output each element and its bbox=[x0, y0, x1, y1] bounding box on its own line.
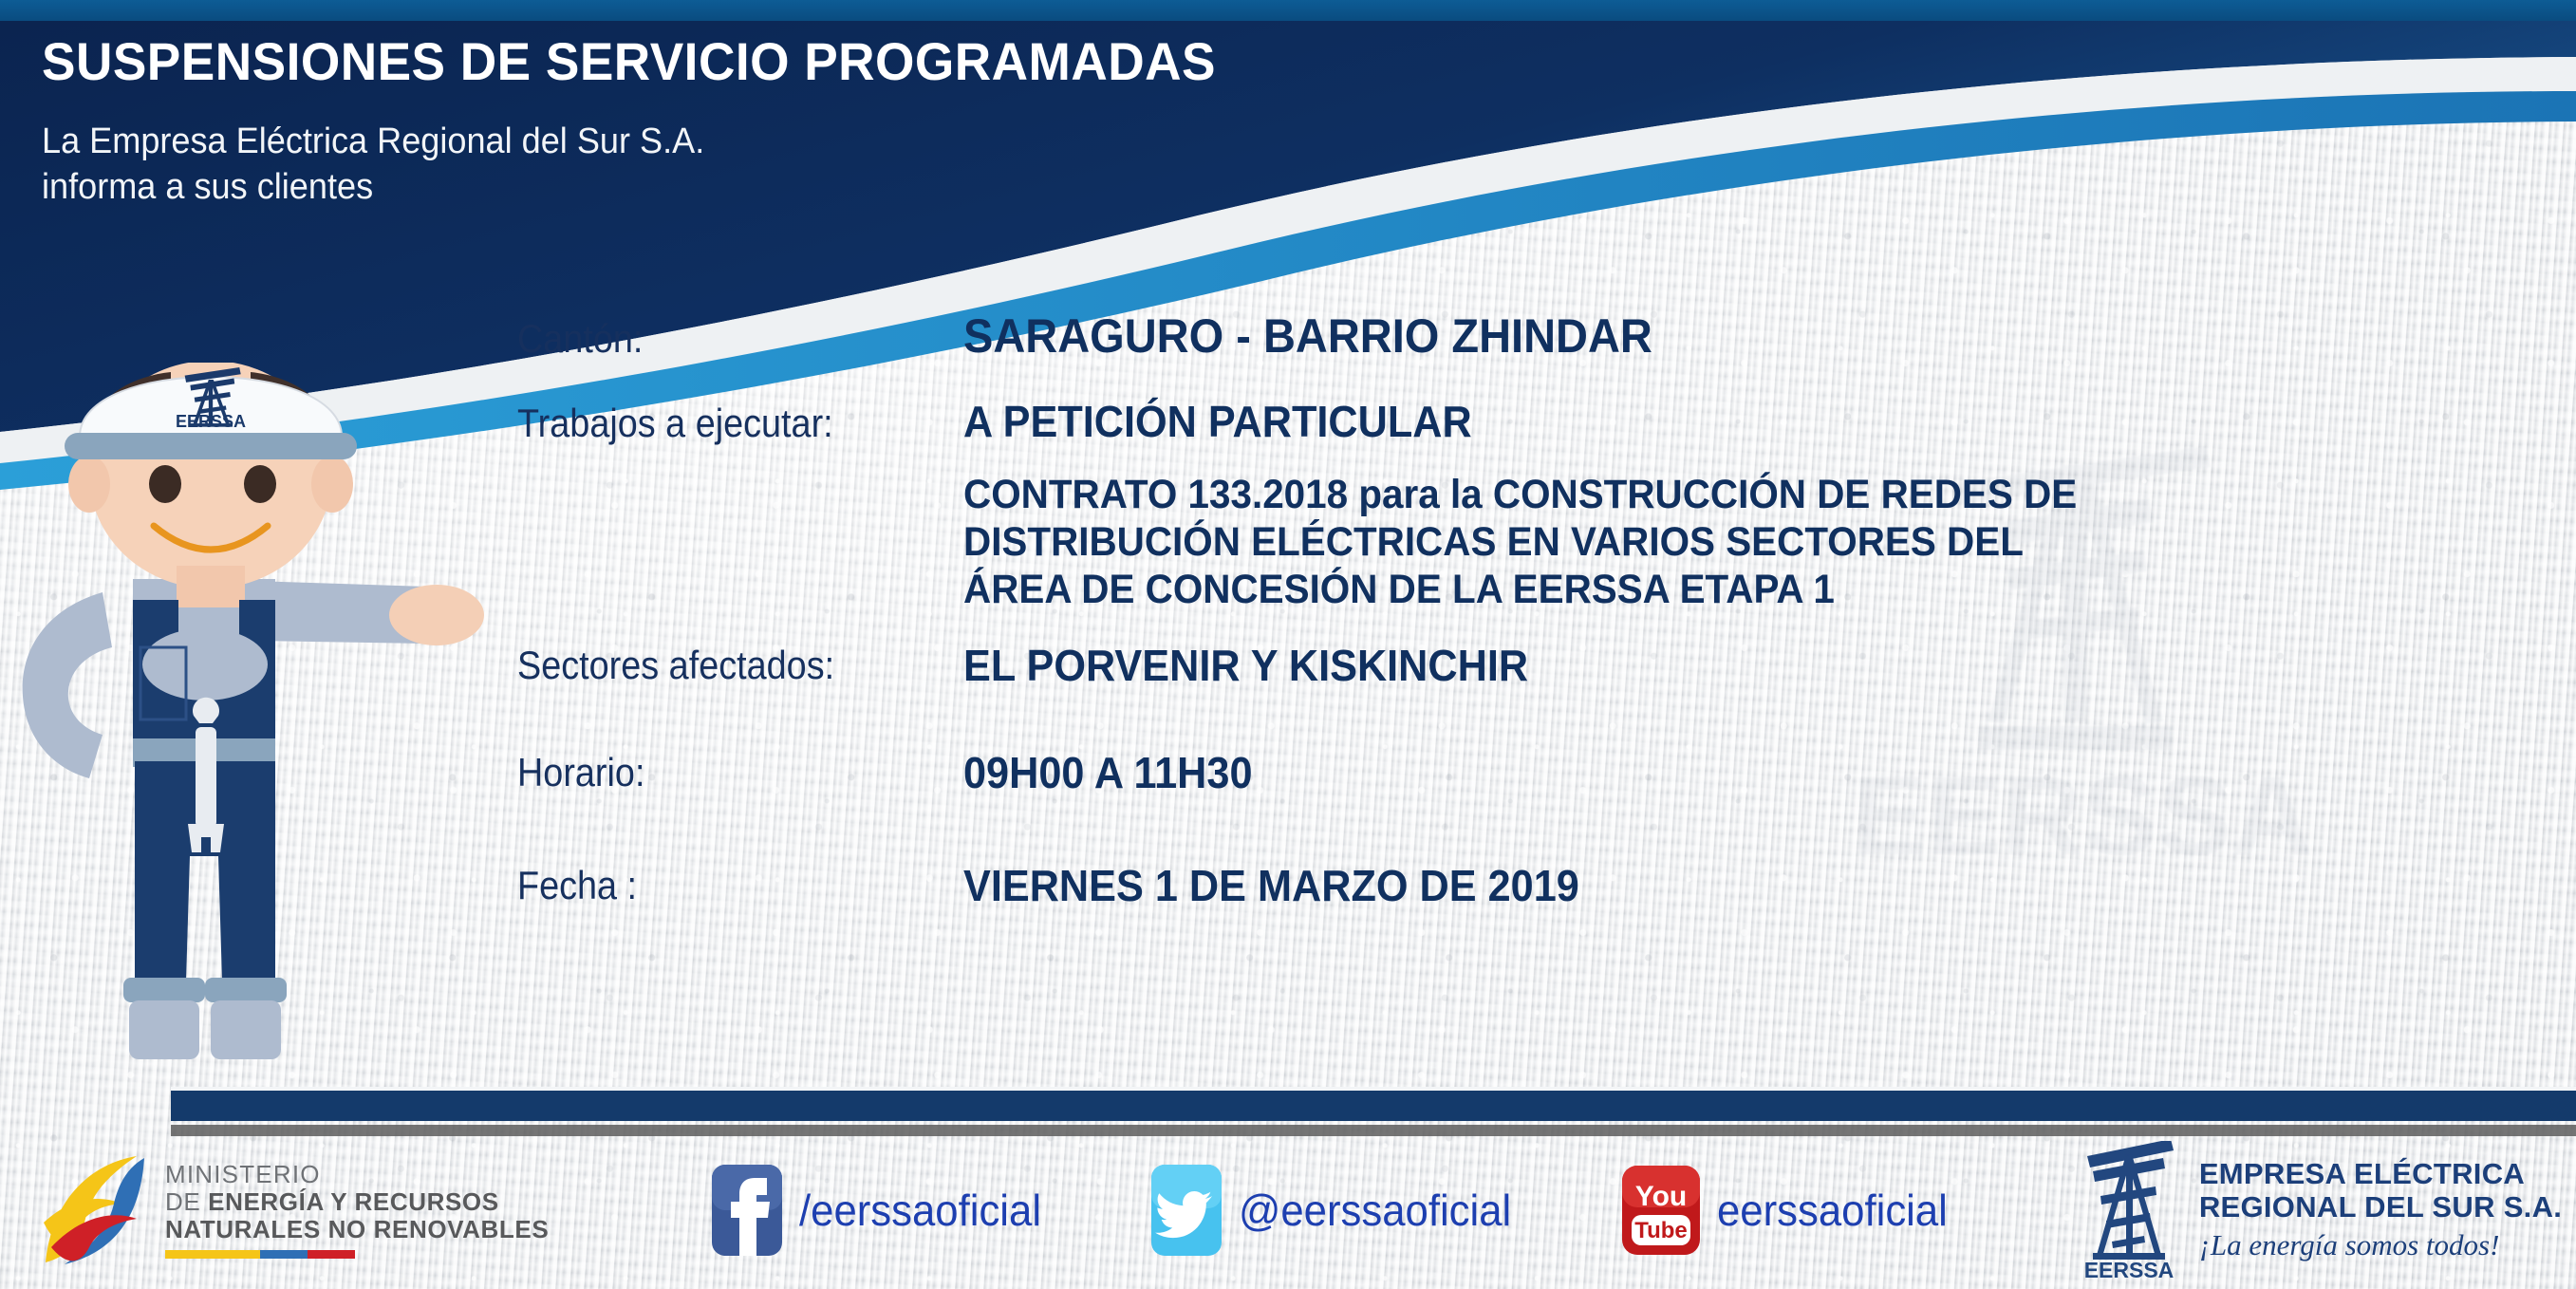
suspension-details: Cantón: SARAGURO - BARRIO ZHINDAR Trabaj… bbox=[517, 308, 2548, 943]
ministry-line3: NATURALES NO RENOVABLES bbox=[165, 1216, 549, 1243]
svg-text:You: You bbox=[1635, 1181, 1687, 1212]
row-sectores: Sectores afectados: EL PORVENIR Y KISKIN… bbox=[517, 614, 2548, 717]
trabajos-value: A PETICIÓN PARTICULAR bbox=[963, 396, 1472, 447]
horario-label: Horario: bbox=[517, 750, 919, 795]
ministry-line2: DE ENERGÍA Y RECURSOS bbox=[165, 1188, 549, 1216]
company-name-line2: REGIONAL DEL SUR S.A. bbox=[2199, 1191, 2562, 1224]
worker-mascot-illustration: EERSSA bbox=[0, 363, 484, 1112]
trabajos-detail: CONTRATO 133.2018 para la CONSTRUCCIÓN D… bbox=[963, 472, 2548, 614]
ministry-logo-group: MINISTERIO DE ENERGÍA Y RECURSOS NATURAL… bbox=[38, 1149, 549, 1272]
svg-text:Tube: Tube bbox=[1634, 1218, 1688, 1243]
youtube-icon[interactable]: You Tube bbox=[1620, 1164, 1702, 1257]
fecha-value: VIERNES 1 DE MARZO DE 2019 bbox=[963, 860, 1579, 911]
company-slogan: ¡La energía somos todos! bbox=[2199, 1228, 2562, 1262]
row-horario: Horario: 09H00 A 11H30 bbox=[517, 717, 2548, 829]
sectores-label: Sectores afectados: bbox=[517, 643, 919, 688]
trabajos-detail-line3: ÁREA DE CONCESIÓN DE LA EERSSA ETAPA 1 bbox=[963, 567, 2454, 614]
fecha-label: Fecha : bbox=[517, 863, 919, 908]
service-suspension-poster: EERSSA SUSPENSIONES DE SERVICIO PROGRAMA… bbox=[0, 0, 2576, 1289]
footer: MINISTERIO DE ENERGÍA Y RECURSOS NATURAL… bbox=[0, 1131, 2576, 1289]
twitter-handle[interactable]: @eerssaoficial bbox=[1239, 1185, 1511, 1236]
youtube-handle[interactable]: eerssaoficial bbox=[1717, 1185, 1948, 1236]
twitter-group[interactable]: @eerssaoficial bbox=[1149, 1163, 1525, 1258]
company-name-line1: EMPRESA ELÉCTRICA bbox=[2199, 1158, 2562, 1191]
footer-divider-bar bbox=[171, 1087, 2576, 1121]
eerssa-logo-text: EERSSA bbox=[2084, 1258, 2175, 1280]
trabajos-detail-line1: CONTRATO 133.2018 para la CONSTRUCCIÓN D… bbox=[963, 472, 2454, 519]
sectores-value: EL PORVENIR Y KISKINCHIR bbox=[963, 640, 1528, 691]
eerssa-tower-icon: EERSSA bbox=[2072, 1141, 2186, 1280]
row-trabajos: Trabajos a ejecutar: A PETICIÓN PARTICUL… bbox=[517, 396, 2548, 468]
ministry-swirl-icon bbox=[38, 1149, 152, 1272]
ecuador-flag-bar bbox=[165, 1250, 355, 1259]
canton-value: SARAGURO - BARRIO ZHINDAR bbox=[963, 308, 1652, 364]
twitter-icon[interactable] bbox=[1149, 1163, 1223, 1258]
canton-label: Cantón: bbox=[517, 316, 919, 362]
ministry-line1: MINISTERIO bbox=[165, 1162, 549, 1188]
trabajos-label: Trabajos a ejecutar: bbox=[517, 401, 919, 446]
facebook-icon[interactable] bbox=[710, 1163, 784, 1258]
header-subtitle-line2: informa a sus clientes bbox=[42, 164, 1394, 211]
row-canton: Cantón: SARAGURO - BARRIO ZHINDAR bbox=[517, 308, 2548, 396]
row-fecha: Fecha : VIERNES 1 DE MARZO DE 2019 bbox=[517, 829, 2548, 943]
header-subtitle-line1: La Empresa Eléctrica Regional del Sur S.… bbox=[42, 119, 1394, 165]
page-title: SUSPENSIONES DE SERVICIO PROGRAMADAS bbox=[42, 34, 1394, 90]
eerssa-logo-group: EERSSA EMPRESA ELÉCTRICA REGIONAL DEL SU… bbox=[2072, 1141, 2562, 1280]
facebook-handle[interactable]: /eerssaoficial bbox=[799, 1185, 1041, 1236]
header-text-block: SUSPENSIONES DE SERVICIO PROGRAMADAS La … bbox=[42, 34, 1465, 211]
horario-value: 09H00 A 11H30 bbox=[963, 747, 1253, 798]
youtube-group[interactable]: You Tube eerssaoficial bbox=[1620, 1164, 1960, 1257]
facebook-group[interactable]: /eerssaoficial bbox=[710, 1163, 1054, 1258]
helmet-logo-text: EERSSA bbox=[176, 412, 246, 431]
trabajos-detail-line2: DISTRIBUCIÓN ELÉCTRICAS EN VARIOS SECTOR… bbox=[963, 519, 2454, 567]
